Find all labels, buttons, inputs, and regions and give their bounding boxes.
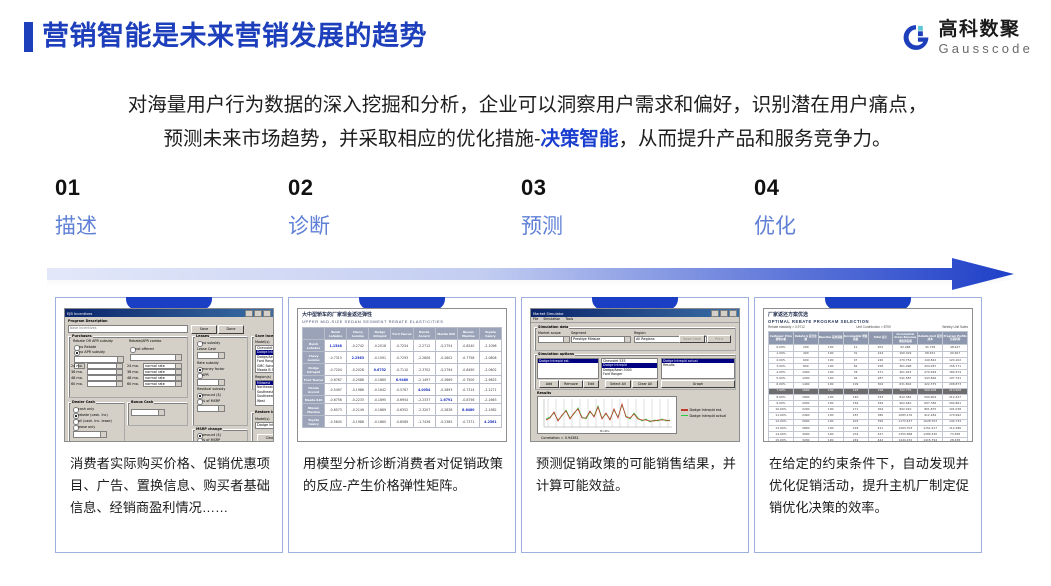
window-titlebar: EJB Incentives — [65, 309, 273, 317]
label-regions: Region(s) — [255, 375, 271, 379]
label-rebate-cash-inc: rebate (cash. Inc) — [78, 413, 108, 417]
label-simulation-options: Simulation options — [537, 352, 575, 356]
list-item[interactable]: Dodge Intrepid est. — [538, 359, 598, 363]
matrix-cell: -0.7500 — [457, 376, 479, 384]
combo-rate-subsidy[interactable] — [197, 379, 225, 386]
optimal-cell: 1444.232 — [893, 438, 918, 442]
brand-logo: 高科数聚 Gausscode — [900, 20, 1033, 55]
matrix-cell: -0.1660 — [369, 416, 391, 428]
matrix-col-header: Buick LeSabre — [325, 328, 347, 340]
card-caption: 预测促销政策的可能销售结果，并计算可能效益。 — [536, 453, 736, 497]
matrix-cell: -0.2754 — [435, 340, 457, 352]
matrix-cell: -2.2337 — [413, 396, 435, 404]
window-title: EJB Incentives — [67, 311, 92, 316]
matrix-cell: -2.2271 — [479, 384, 501, 396]
matrix-row-header: Mazda 626 — [303, 396, 325, 404]
logo-name-cn: 高科数聚 — [938, 20, 1033, 39]
label-combo-term-48: 48 mo. — [127, 376, 139, 380]
logo-text: 高科数聚 Gausscode — [938, 20, 1033, 55]
label-combo-term-36: 36 mo. — [127, 370, 139, 374]
step-item-02: 02 诊断 — [288, 175, 488, 240]
optimal-body: 0.00%2001901120192.26841.71848.4471.00%4… — [769, 345, 968, 442]
card-caption: 用模型分析诊断消费者对促销政策的反应-产生价格弹性矩阵。 — [303, 453, 503, 497]
combo-rebate-amount[interactable] — [74, 356, 124, 363]
label-save-incentives: Save incentives — [254, 334, 274, 338]
label-term-48: 48 mo. — [71, 376, 83, 380]
graph-button[interactable]: Graph — [661, 380, 735, 388]
matrix-cell: -2.2712 — [413, 340, 435, 352]
optimal-col-header: Baseline 基准销量 — [818, 332, 843, 345]
matrix-col-header: Toyota Camry — [479, 328, 501, 340]
list-sim-cases[interactable]: Dodge Intrepid est. — [537, 358, 599, 379]
matrix-row-header: Nissan Maxima — [303, 404, 325, 416]
label-no-subsidy: no subsidy — [202, 341, 220, 345]
matrix-cell: 4.2561 — [479, 416, 501, 428]
label-residual-amount: amount ($) — [202, 393, 221, 397]
matrix-row-header: Chevy Lumina — [303, 352, 325, 364]
logo-name-en: Gausscode — [938, 42, 1033, 55]
list-item[interactable]: Southwest — [256, 394, 274, 398]
lead-paragraph: 对海量用户行为数据的深入挖掘和分析，企业可以洞察用户需求和偏好，识别潜在用户痛点… — [50, 88, 1005, 156]
matrix-cell: -0.2028 — [347, 364, 369, 376]
label-restore-incentives: Restore incentives — [254, 410, 274, 414]
label-lease-cash: Lease Cash — [197, 347, 216, 351]
add-button[interactable]: Add — [539, 380, 559, 388]
step-number: 02 — [288, 175, 488, 201]
label-msrp-change: MSRP change — [195, 427, 223, 431]
optimal-cell: 1415.794 — [918, 438, 943, 442]
value-normal-rate-48: normal rate — [145, 376, 165, 380]
card-diagnose[interactable]: 大中型轿车的厂家现金返还弹性 UPPER MID-SIZE SEDAN SEGM… — [288, 297, 516, 553]
optimal-cell: 15.00% — [769, 438, 794, 442]
matrix-row: Mazda 626-0.6756-0.2233-0.1895-0.6954-2.… — [303, 396, 502, 404]
matrix-cell: -0.1860 — [369, 376, 391, 384]
cards-row: EJB Incentives Program Description base … — [0, 297, 1051, 557]
legend-item-estimate: Dodge Intrepid est. — [681, 408, 726, 412]
save-button[interactable]: Save — [191, 325, 217, 334]
matrix-cell: -2.1497 — [413, 376, 435, 384]
matrix-cell: 8.6480 — [457, 404, 479, 416]
remove-button[interactable]: Remove — [559, 380, 583, 388]
legend-item-actual: Dodge Intrepid actual — [681, 414, 726, 418]
label-apr: APR — [202, 373, 209, 377]
matrix-cell: -0.1988 — [347, 416, 369, 428]
matrix-cell: -0.7313 — [325, 352, 347, 364]
combo-residual[interactable] — [197, 405, 225, 412]
matrix-cell: -1.7436 — [413, 416, 435, 428]
title-accent-bar — [24, 22, 33, 52]
matrix-cell: -0.2838 — [435, 404, 457, 416]
matrix-cell: -0.5767 — [391, 384, 413, 396]
matrix-cell: 1.1548 — [325, 340, 347, 352]
label-program-description: Program Description — [68, 319, 108, 323]
thumbnail-simulation-window: Market Simulator File Simulation Tools S… — [530, 308, 740, 442]
label-term-60: 60 mo. — [71, 382, 83, 386]
matrix-cell: -0.2742 — [347, 340, 369, 352]
label-msrp-pct: % of MSRP — [202, 438, 220, 442]
list-item[interactable]: West — [256, 399, 274, 403]
legend-label-actual: Dodge Intrepid actual — [690, 414, 727, 418]
matrix-cell: 4.0054 — [413, 384, 435, 396]
label-lease-only: lease only — [78, 425, 95, 429]
optimal-cell: 28.438 — [943, 438, 968, 442]
elasticity-matrix: 大中型轿车的厂家现金返还弹性 UPPER MID-SIZE SEDAN SEGM… — [298, 309, 506, 441]
menu-simulation[interactable]: Simulation — [543, 317, 560, 322]
value-normal-rate-60: normal rate — [145, 382, 165, 386]
save-case-button[interactable]: Save Case — [679, 335, 705, 343]
list-item[interactable]: Mazda B Series — [256, 368, 274, 372]
label-term-24: 24 mo. — [71, 364, 83, 368]
lead-line-1: 对海量用户行为数据的深入挖掘和分析，企业可以洞察用户需求和偏好，识别潜在用户痛点… — [50, 88, 1005, 122]
optimal-rebate-table: 厂家返还方案优选 OPTIMAL REBATE PROGRAM SELECTIO… — [764, 309, 972, 441]
matrix-title-cn: 大中型轿车的厂家现金返还弹性 — [302, 312, 502, 319]
list-sim-outputs[interactable]: Dodge Intrepid actual Results — [661, 358, 735, 379]
page-header: 营销智能是未来营销发展的趋势 高科数聚 Gausscode — [0, 0, 1051, 72]
matrix-row-header: Honda Accord — [303, 384, 325, 396]
step-number: 04 — [754, 175, 954, 201]
list-regions[interactable]: Midwest Northeast Southeast Southwest We… — [255, 380, 274, 406]
window-controls — [711, 310, 737, 317]
label-cash-only: cash only — [78, 407, 94, 411]
matrix-col-header: Ford Taurus — [391, 328, 413, 340]
list-sim-models[interactable]: Chevrolet 535 Dodge Intrepid Dodge/Aeon … — [601, 358, 658, 379]
label-no-apr-subsidy: no APR subsidy — [79, 350, 105, 354]
legend-label-estimate: Dodge Intrepid est. — [690, 408, 723, 412]
step-number: 01 — [55, 175, 255, 201]
combo-bonus-cash[interactable] — [131, 409, 165, 416]
label-rebate-or-apr: Rebate OR APR subsidy — [73, 339, 113, 343]
simulation-chart: Months — [537, 396, 677, 434]
label-term-36: 36 mo. — [71, 370, 83, 374]
matrix-cell: -0.6954 — [391, 396, 413, 404]
list-models[interactable]: Chevrolet 535 Dodge Intrepid Dodge/Aeon … — [255, 345, 274, 373]
optimal-meta: Rebate elasticity = 0.9712 Unit Contribu… — [768, 325, 968, 330]
optimal-title-cn: 厂家返还方案优选 — [768, 312, 968, 319]
matrix-cell: -0.2149 — [347, 404, 369, 416]
step-item-01: 01 描述 — [55, 175, 255, 240]
window-title: Market Simulator — [533, 311, 564, 316]
window-body: Simulation data Market scope Segment Reg… — [531, 323, 739, 441]
combo-lease-cash[interactable] — [197, 352, 225, 359]
label-restore-model: Model(s) — [255, 417, 270, 421]
matrix-cell: -0.7758 — [457, 352, 479, 364]
step-label: 预测 — [521, 213, 721, 240]
matrix-table: Buick LeSabre Chevy Lumina Dodge Intrepi… — [302, 327, 502, 428]
matrix-row-header: Dodge Intrepid — [303, 364, 325, 376]
matrix-row: Chevy Lumina-0.73132.2563-0.1091-0.7293-… — [303, 352, 502, 364]
progress-arrow — [47, 258, 1014, 290]
card-caption: 消费者实际购买价格、促销优惠项目、广告、置换信息、购买者基础信息、经销商盈利情况… — [70, 453, 270, 519]
edit-button[interactable]: Edit — [583, 380, 599, 388]
matrix-cell: -2.0808 — [479, 352, 501, 364]
lead-line-2: 预测未来市场趋势，并采取相应的优化措施-决策智能，从而提升产品和服务竞争力。 — [50, 122, 1005, 156]
matrix-col-header: Dodge Intrepid — [369, 328, 391, 340]
matrix-col-header: Chevy Lumina — [347, 328, 369, 340]
meta-elasticity: Rebate elasticity = 0.9712 — [768, 325, 805, 330]
matrix-cell: -0.7204 — [325, 364, 347, 376]
label-residual-pct: % of MSRP — [202, 399, 220, 403]
matrix-body: Buick LeSabre1.1548-0.2742-0.2018-0.7254… — [303, 340, 502, 428]
matrix-row: Toyota Camry-0.5645-0.1988-0.1660-0.6589… — [303, 416, 502, 428]
matrix-cell: -0.1091 — [369, 352, 391, 364]
optimal-cell: 249 — [843, 438, 868, 442]
optimal-cell: 442 — [868, 438, 893, 442]
matrix-cell: -0.2893 — [435, 384, 457, 396]
matrix-cell: -0.2233 — [347, 396, 369, 404]
clear-button[interactable]: Clear — [257, 434, 274, 442]
thumbnail-optimal-rebate-table: 厂家返还方案优选 OPTIMAL REBATE PROGRAM SELECTIO… — [763, 308, 973, 442]
list-item[interactable]: Ford Ranger — [602, 372, 657, 376]
matrix-cell: -0.5497 — [325, 384, 347, 396]
label-combo-term-60: 60 mo. — [127, 382, 139, 386]
matrix-corner-cell — [303, 328, 325, 340]
legend-swatch-estimate — [681, 409, 688, 410]
optimal-row: 15.00%32001902494421444.2321415.79428.43… — [769, 438, 968, 442]
matrix-cell: -0.5645 — [325, 416, 347, 428]
matrix-row-header: Buick LeSabre — [303, 340, 325, 352]
label-results: Results — [537, 391, 551, 395]
step-label: 描述 — [55, 213, 255, 240]
card-caption: 在给定的约束条件下，自动发现并优化促销活动，提升主机厂制定促销优化决策的效率。 — [769, 453, 969, 519]
label-rebate-apr-combo: Rebate/APR combo — [129, 339, 161, 343]
matrix-cell: -0.1895 — [369, 396, 391, 404]
matrix-cell: -0.1869 — [369, 404, 391, 416]
label-all-cash: all (cash. Inc. lease) — [78, 419, 112, 423]
matrix-cell: -0.6756 — [325, 396, 347, 404]
matrix-row-header: Toyota Camry — [303, 416, 325, 428]
gausscode-g-mark-icon — [900, 22, 931, 53]
optimal-cell: 190 — [818, 438, 843, 442]
label-residual-subsidy: Residual subsidy — [197, 387, 225, 391]
matrix-cell: -2.2806 — [413, 352, 435, 364]
step-item-04: 04 优化 — [754, 175, 954, 240]
label-no-rebate: no Rebate — [79, 345, 96, 349]
optimal-col-header: Incremental Gross Revenue 增量销售额 — [893, 332, 918, 345]
page-title: 营销智能是未来营销发展的趋势 — [42, 19, 427, 53]
label-segment: Segment — [571, 331, 586, 335]
matrix-col-header: Honda Accord — [413, 328, 435, 340]
matrix-cell: -2.1982 — [479, 404, 501, 416]
matrix-cell: 0.6752 — [369, 364, 391, 376]
chart-legend: Dodge Intrepid est. Dodge Intrepid actua… — [681, 408, 726, 418]
list-item[interactable]: Results — [662, 363, 734, 367]
optimal-col-header: Program Profits 方案利润 — [943, 332, 968, 345]
matrix-row: Nissan Maxima-0.6573-0.2149-0.1869-0.635… — [303, 404, 502, 416]
matrix-cell: -2.3207 — [413, 404, 435, 416]
label-market-scope: Market scope — [538, 331, 561, 335]
legend-swatch-actual — [681, 415, 688, 416]
combo-term-60[interactable] — [87, 381, 123, 387]
window-controls — [245, 310, 271, 317]
combo-dealer-cash[interactable] — [73, 431, 107, 438]
optimal-col-header: Rebate $ 返还金额 — [793, 332, 818, 345]
matrix-title-en: UPPER MID-SIZE SEDAN SEGMENT REBATE ELAS… — [302, 319, 502, 325]
value-restore-model: Dodge Intrepid — [257, 423, 274, 427]
matrix-cell: -0.2088 — [347, 376, 369, 384]
matrix-cell: -0.2602 — [435, 352, 457, 364]
value-region: All Regions — [636, 337, 655, 341]
matrix-cell: -0.8490 — [457, 364, 479, 376]
optimal-col-header: Incremental 增量销量 — [843, 332, 868, 345]
optimal-table: Customer Price 顾客价格 Rebate $ 返还金额 Baseli… — [768, 331, 968, 442]
done-button[interactable]: Done — [218, 325, 244, 334]
step-label: 优化 — [754, 213, 954, 240]
menu-file[interactable]: File — [533, 317, 538, 322]
combo-combo-amount[interactable] — [130, 354, 182, 361]
label-leases: Leases — [195, 334, 210, 338]
window-titlebar: Market Simulator — [531, 309, 739, 317]
matrix-cell: -2.1096 — [479, 340, 501, 352]
step-labels: 01 描述 02 诊断 03 预测 04 优化 — [0, 175, 1051, 260]
matrix-cell: -0.6573 — [325, 404, 347, 416]
matrix-cell: -0.7371 — [457, 416, 479, 428]
matrix-cell: -0.6352 — [391, 404, 413, 416]
step-number: 03 — [521, 175, 721, 201]
combo-market-scope[interactable] — [538, 336, 570, 343]
matrix-cell: 2.2563 — [347, 352, 369, 364]
value-normal-rate-36: normal rate — [145, 370, 165, 374]
value-segment: Prestige Midsize — [573, 337, 600, 341]
matrix-header-row: Buick LeSabre Chevy Lumina Dodge Intrepi… — [303, 328, 502, 340]
thumbnail-incentives-form: EJB Incentives Program Description base … — [64, 308, 274, 442]
optimal-header-row: Customer Price 顾客价格 Rebate $ 返还金额 Baseli… — [769, 332, 968, 345]
matrix-cell: -2.0602 — [479, 364, 501, 376]
card-optimize[interactable]: 厂家返还方案优选 OPTIMAL REBATE PROGRAM SELECTIO… — [754, 297, 982, 553]
label-rate-subsidy: Rate subsidy — [197, 361, 219, 365]
matrix-row: Honda Accord-0.5497-0.1986-0.1642-0.5767… — [303, 384, 502, 396]
matrix-col-header: Nissan Maxima — [457, 328, 479, 340]
meta-contribution: Unit Contribution = $790 — [856, 325, 890, 330]
optimal-col-header: Customer Price 顾客价格 — [769, 332, 794, 345]
matrix-cell: -0.2669 — [435, 376, 457, 384]
correlation-footer: Correlation = 0.94381 — [541, 436, 579, 440]
matrix-cell: -0.1642 — [369, 384, 391, 396]
label-simulation-data: Simulation data — [537, 325, 569, 329]
matrix-row: Buick LeSabre1.1548-0.2742-0.2018-0.7254… — [303, 340, 502, 352]
card-describe[interactable]: EJB Incentives Program Description base … — [55, 297, 283, 553]
matrix-cell: 6.9480 — [391, 376, 413, 384]
step-label: 诊断 — [288, 213, 488, 240]
label-msrp-amount: amount ($) — [202, 433, 221, 437]
program-description-value: base incentives — [70, 326, 96, 330]
matrix-row: Dodge Intrepid-0.7204-0.20280.6752-0.711… — [303, 364, 502, 376]
card-predict[interactable]: Market Simulator File Simulation Tools S… — [521, 297, 749, 553]
matrix-col-header: Mazda 626 — [435, 328, 457, 340]
matrix-cell: -0.7110 — [391, 364, 413, 376]
matrix-cell: -0.6767 — [325, 376, 347, 384]
label-models: Model(s) — [255, 340, 270, 344]
label-not-offered: not offered — [135, 347, 154, 351]
matrix-cell: -0.7314 — [457, 384, 479, 396]
matrix-cell: -0.7254 — [391, 340, 413, 352]
clear-all-button[interactable]: Clear All — [632, 380, 658, 388]
list-item[interactable]: Ford Ranger — [256, 359, 274, 363]
step-item-03: 03 预测 — [521, 175, 721, 240]
thumbnail-elasticity-matrix: 大中型轿车的厂家现金返还弹性 UPPER MID-SIZE SEDAN SEGM… — [297, 308, 507, 442]
value-normal-rate-24: normal rate — [145, 364, 165, 368]
matrix-row: Ford Taurus-0.6767-0.2088-0.18606.9480-2… — [303, 376, 502, 384]
matrix-cell: -0.2018 — [369, 340, 391, 352]
lead-highlight-term: 决策智能 — [540, 128, 618, 150]
matrix-cell: -0.7293 — [391, 352, 413, 364]
label-money-factor: money factor — [202, 367, 225, 371]
label-region: Region — [634, 331, 646, 335]
optimal-cell: 3200 — [793, 438, 818, 442]
matrix-cell: -0.1986 — [347, 384, 369, 396]
menu-tools[interactable]: Tools — [565, 317, 573, 322]
matrix-cell: -2.1663 — [479, 396, 501, 404]
matrix-cell: -2.9825 — [479, 376, 501, 384]
window-body: Program Description base incentives Purc… — [65, 317, 273, 441]
optimal-col-header: Total 总计 — [868, 332, 893, 345]
matrix-cell: -0.2794 — [435, 364, 457, 376]
matrix-cell: -0.2385 — [435, 416, 457, 428]
matrix-cell: -0.8240 — [457, 340, 479, 352]
matrix-row-header: Ford Taurus — [303, 376, 325, 384]
label-combo-term-24: 24 mo. — [127, 364, 139, 368]
meta-units: Weekly Unit Sales — [942, 325, 968, 330]
matrix-cell: -0.6589 — [391, 416, 413, 428]
svg-text:Months: Months — [600, 429, 610, 433]
print-button[interactable]: Print — [707, 335, 731, 343]
matrix-cell: 1.6791 — [435, 396, 457, 404]
label-dealer-cash: Dealer Cash — [71, 400, 96, 404]
matrix-cell: -0.8756 — [457, 396, 479, 404]
select-all-button[interactable]: Select All — [605, 380, 631, 388]
label-bonus-cash: Bonus Cash — [130, 400, 154, 404]
label-purchases: Purchases — [71, 334, 93, 338]
optimal-col-header: Rebate Cost 返还成本 — [918, 332, 943, 345]
matrix-cell: -2.3702 — [413, 364, 435, 376]
